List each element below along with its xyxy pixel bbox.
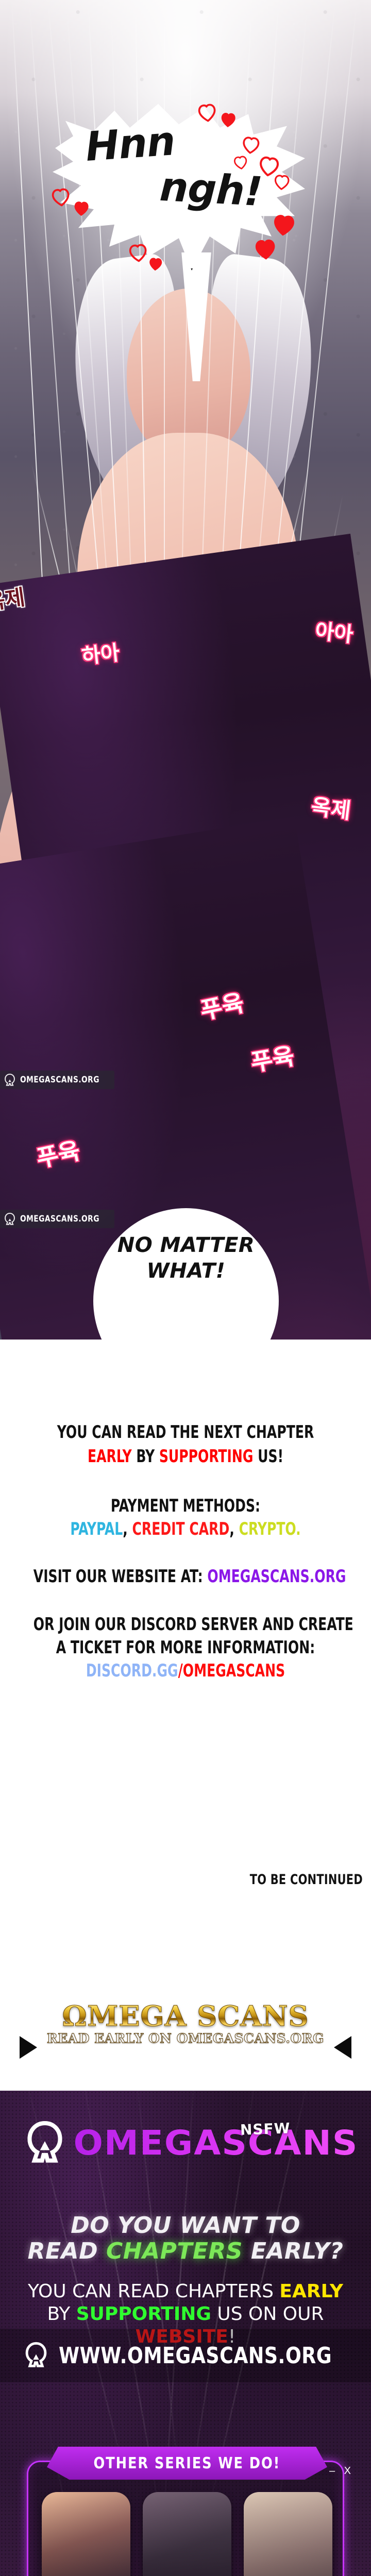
ad-question-line-1: DO YOU WANT TO [0,2213,371,2238]
promo-text-section: YOU CAN READ THE NEXT CHAPTER EARLY BY S… [0,1340,371,2091]
omega-logo-icon [3,1212,16,1226]
heart-icon [251,235,279,262]
series-card[interactable]: SEX STOPWATCH [42,2492,130,2576]
promo-headline: YOU CAN READ THE NEXT CHAPTER [33,1422,338,1443]
payment-period: . [296,1519,301,1539]
ad-question-line-2: READ CHAPTERS EARLY? [0,2239,371,2264]
other-series-header: OTHER SERIES WE DO! [47,2447,327,2480]
sfx-text: 옥제 [310,789,353,825]
burst-bubble-text: NO MATTER WHAT! [93,1232,279,1284]
payment-methods: PAYPAL, CREDIT CARD, CRYPTO. [33,1519,338,1539]
series-card[interactable]: A WONDERFUL NEW WORLD [143,2492,231,2576]
ad-supporting: SUPPORTING [76,2303,211,2325]
visit-prefix: VISIT OUR WEBSITE AT: [33,1566,208,1587]
watermark-badge: OMEGASCANS.ORG [0,1071,114,1089]
heart-icon [240,134,262,156]
gold-banner-title: ΩMEGA SCANS [0,2002,371,2030]
heart-icon [147,255,164,273]
ad-on-our: US ON OUR [211,2303,324,2325]
burst-line-2: WHAT! [93,1258,279,1284]
promo-early: EARLY [88,1446,132,1467]
series-cover-overlay [42,2492,130,2576]
burst-line-1: NO MATTER [93,1232,279,1258]
gold-banner-subtitle: READ EARLY ON OMEGASCANS.ORG [0,2031,371,2046]
heart-icon [196,101,218,124]
nsfw-badge: NSFW [240,2120,291,2138]
discord-line-2: A TICKET FOR MORE INFORMATION: [33,1637,338,1658]
website-url-text: WWW.OMEGASCANS.ORG [59,2343,332,2369]
watermark-text: OMEGASCANS.ORG [20,1214,99,1224]
discord-url[interactable]: DISCORD.GG/OMEGASCANS [33,1660,338,1681]
payment-sep: , [229,1519,239,1539]
other-series-panel: OTHER SERIES WE DO! – X SEX STOPWATCHA W… [27,2461,344,2576]
visit-url[interactable]: OMEGASCANS.ORG [207,1566,346,1587]
series-card[interactable]: GLORY HOLE SHOP [244,2492,332,2576]
ad-read: READ [28,2238,106,2264]
visit-website-line: VISIT OUR WEBSITE AT: OMEGASCANS.ORG [33,1566,338,1587]
discord-path: /OMEGASCANS [178,1660,285,1681]
to-be-continued: TO BE CONTINUED [250,1872,363,1888]
payment-sep: , [123,1519,132,1539]
nsfw-ad-banner: OMEGASCANS NSFW DO YOU WANT TO READ CHAP… [0,2091,371,2576]
omega-logo-icon [3,1073,16,1087]
omega-scans-logo[interactable]: OMEGASCANS [23,2119,356,2168]
comic-panel: 옥제 하아 아아 옥제 옥제 푸육 푸육 푸육 Hnn ngh! NO MATT… [0,0,371,1340]
promo-supporting: SUPPORTING [159,1446,254,1467]
omega-scans-gold-banner: ΩMEGA SCANS READ EARLY ON OMEGASCANS.ORG [0,2002,371,2070]
ad-support-line-1: YOU CAN READ CHAPTERS EARLY [0,2280,371,2303]
ad-chapters: CHAPTERS [106,2238,243,2264]
sfx-text: 아아 [314,614,355,648]
payment-crypto: CRYPTO [239,1519,296,1539]
series-grid: SEX STOPWATCHA WONDERFUL NEW WORLDGLORY … [42,2492,332,2576]
omega-logo-icon [23,2119,67,2168]
chapter-page: 옥제 하아 아아 옥제 옥제 푸육 푸육 푸육 Hnn ngh! NO MATT… [0,0,371,2576]
promo-subheadline: EARLY BY SUPPORTING US! [33,1446,338,1467]
ad-support-early: EARLY [279,2281,343,2302]
series-cover-overlay [143,2492,231,2576]
omega-logo-icon [23,2341,49,2370]
heart-icon [273,173,291,191]
heart-icon [218,110,238,129]
website-url-bar[interactable]: WWW.OMEGASCANS.ORG [0,2329,371,2382]
heart-icon [72,198,91,217]
ad-early: EARLY? [243,2238,343,2264]
discord-domain: DISCORD.GG [86,1660,178,1681]
omega-scans-wordmark: OMEGASCANS [74,2126,359,2160]
sfx-text: 하아 [80,636,121,669]
watermark-text: OMEGASCANS.ORG [20,1075,99,1085]
other-series-title: OTHER SERIES WE DO! [94,2454,281,2472]
ad-support-prefix: YOU CAN READ CHAPTERS [28,2281,279,2302]
discord-line-1: OR JOIN OUR DISCORD SERVER AND CREATE [33,1614,338,1635]
payment-credit-card: CREDIT CARD [132,1519,230,1539]
series-cover-overlay [244,2492,332,2576]
heart-icon [127,241,149,263]
payment-heading: PAYMENT METHODS: [33,1496,338,1516]
heart-icon [232,154,249,171]
ad-by: BY [47,2303,76,2325]
promo-by: BY [132,1446,159,1467]
heart-icon [49,185,72,208]
window-controls[interactable]: – X [329,2465,354,2477]
payment-paypal: PAYPAL [70,1519,123,1539]
promo-us: US! [253,1446,283,1467]
watermark-badge: OMEGASCANS.ORG [0,1210,114,1228]
